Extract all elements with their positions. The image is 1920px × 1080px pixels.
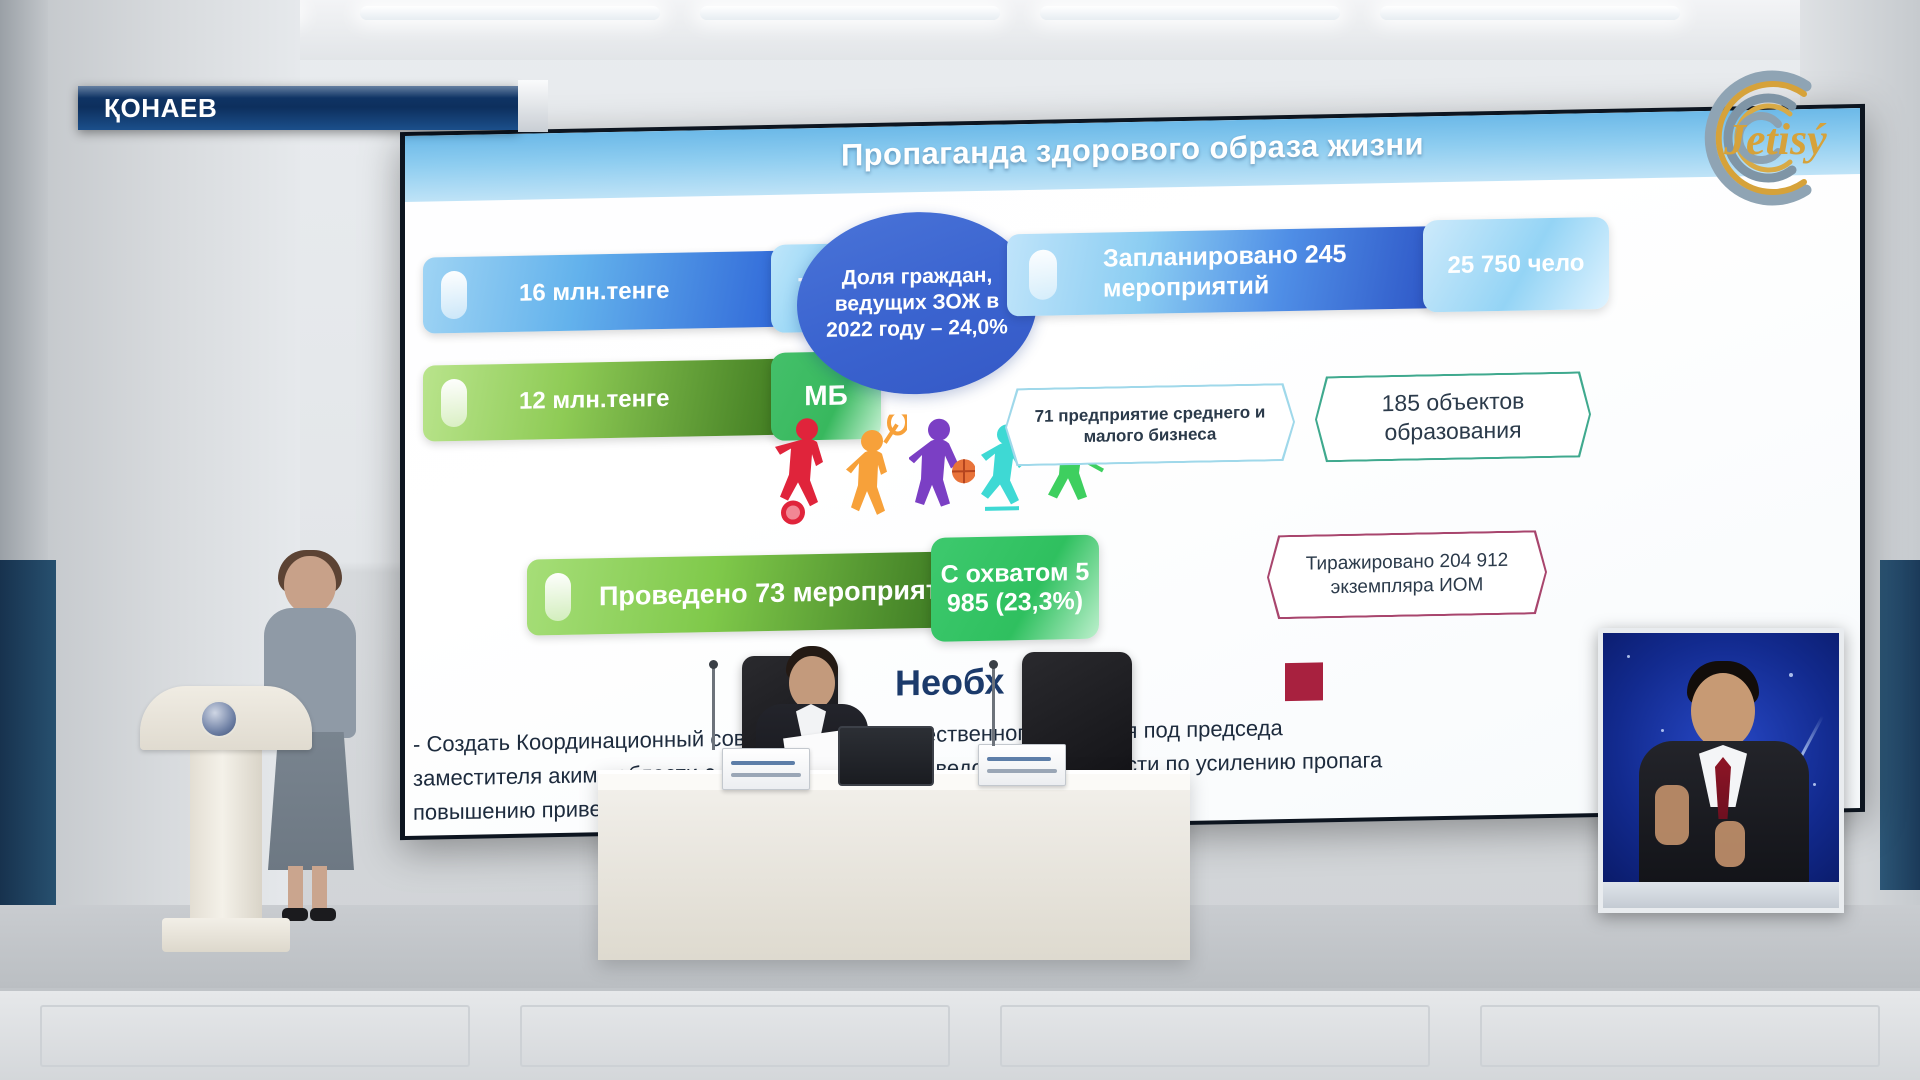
- broadcast-frame: Пропаганда здорового образа жизни 16 млн…: [0, 0, 1920, 1080]
- conference-table: [598, 770, 1190, 960]
- held-events-row: Проведено 73 мероприятия С охватом 5 985…: [527, 535, 1099, 650]
- podium-base: [162, 918, 290, 952]
- ceiling-light: [360, 6, 660, 20]
- printed-materials-label: Тиражировано 204 912 экземпляра ИОМ: [1269, 532, 1545, 617]
- presenter-shoe: [310, 908, 336, 921]
- held-events-bar: Проведено 73 мероприятия: [527, 552, 945, 636]
- sign-language-inset: [1598, 628, 1844, 913]
- podium-column: [190, 748, 262, 922]
- education-hexagon: 185 объектов образования: [1315, 371, 1591, 462]
- microphone-head-icon: [709, 660, 718, 669]
- sign-language-video: [1603, 633, 1839, 908]
- ceiling-light: [1380, 6, 1680, 20]
- red-square-bullet: [1285, 662, 1323, 701]
- nameplate-text-line: [731, 773, 801, 777]
- tennis-player-icon: [845, 414, 907, 525]
- presenter-leg: [312, 866, 327, 912]
- nameplate: [722, 748, 810, 790]
- jetisu-swirl-icon: Jetisý: [1686, 62, 1854, 214]
- basketball-player-icon: [909, 413, 975, 524]
- education-hexagon-label: 185 объектов образования: [1317, 373, 1589, 460]
- need-section-title: Необх: [895, 660, 1004, 704]
- held-events-reach-tag: С охватом 5 985 (23,3%): [931, 535, 1099, 642]
- printed-materials-hexagon: Тиражировано 204 912 экземпляра ИОМ: [1267, 530, 1547, 619]
- presenter-head: [284, 556, 336, 614]
- background-star: [1789, 673, 1793, 677]
- state-emblem-icon: [200, 700, 238, 738]
- background-star: [1627, 655, 1630, 658]
- interpreter-head: [1691, 673, 1755, 749]
- nameplate-text-line: [987, 769, 1057, 773]
- background-star: [1661, 729, 1664, 732]
- budget-amount-mb: 12 млн.тенге: [423, 359, 785, 442]
- nameplate: [978, 744, 1066, 786]
- nameplate-text-line: [731, 761, 795, 765]
- laptop: [838, 726, 934, 786]
- nameplate-text-line: [987, 757, 1051, 761]
- banner-sheen: [78, 86, 518, 98]
- zozh-share-ellipse: Доля граждан, ведущих ЗОЖ в 2022 году – …: [797, 210, 1037, 397]
- channel-logo: Jetisý: [1686, 62, 1854, 214]
- planned-events-bar: Запланировано 245 мероприятий: [1007, 226, 1437, 316]
- official-head: [789, 656, 835, 710]
- banner-end-cap: [518, 80, 548, 132]
- right-curtain: [1880, 560, 1920, 890]
- background-star: [1813, 783, 1816, 786]
- sme-hexagon: 71 предприятие среднего и малого бизнеса: [1005, 383, 1295, 467]
- interpreter-hand: [1655, 785, 1689, 845]
- wall-panel: [40, 1005, 470, 1067]
- microphone-head-icon: [989, 660, 998, 669]
- ceiling-light: [700, 6, 1000, 20]
- interpreter-hand: [1715, 821, 1745, 867]
- speaker-podium: [140, 686, 312, 956]
- wall-panel: [1000, 1005, 1430, 1067]
- sme-hexagon-label: 71 предприятие среднего и малого бизнеса: [1007, 385, 1293, 464]
- ceiling-light: [1040, 6, 1340, 20]
- budget-amount-tox: 16 млн.тенге: [423, 251, 785, 334]
- wall-panel: [1480, 1005, 1880, 1067]
- soccer-player-icon: [773, 416, 843, 527]
- planned-events-reach-tag: 25 750 чело: [1423, 217, 1609, 313]
- wall-panel: [520, 1005, 950, 1067]
- channel-logo-text: Jetisý: [1723, 115, 1827, 164]
- interpreter-desk: [1603, 882, 1839, 908]
- microphone-stand: [992, 666, 995, 746]
- microphone-stand: [712, 666, 715, 750]
- front-wall-panel: [0, 988, 1920, 1080]
- podium-top: [140, 686, 312, 750]
